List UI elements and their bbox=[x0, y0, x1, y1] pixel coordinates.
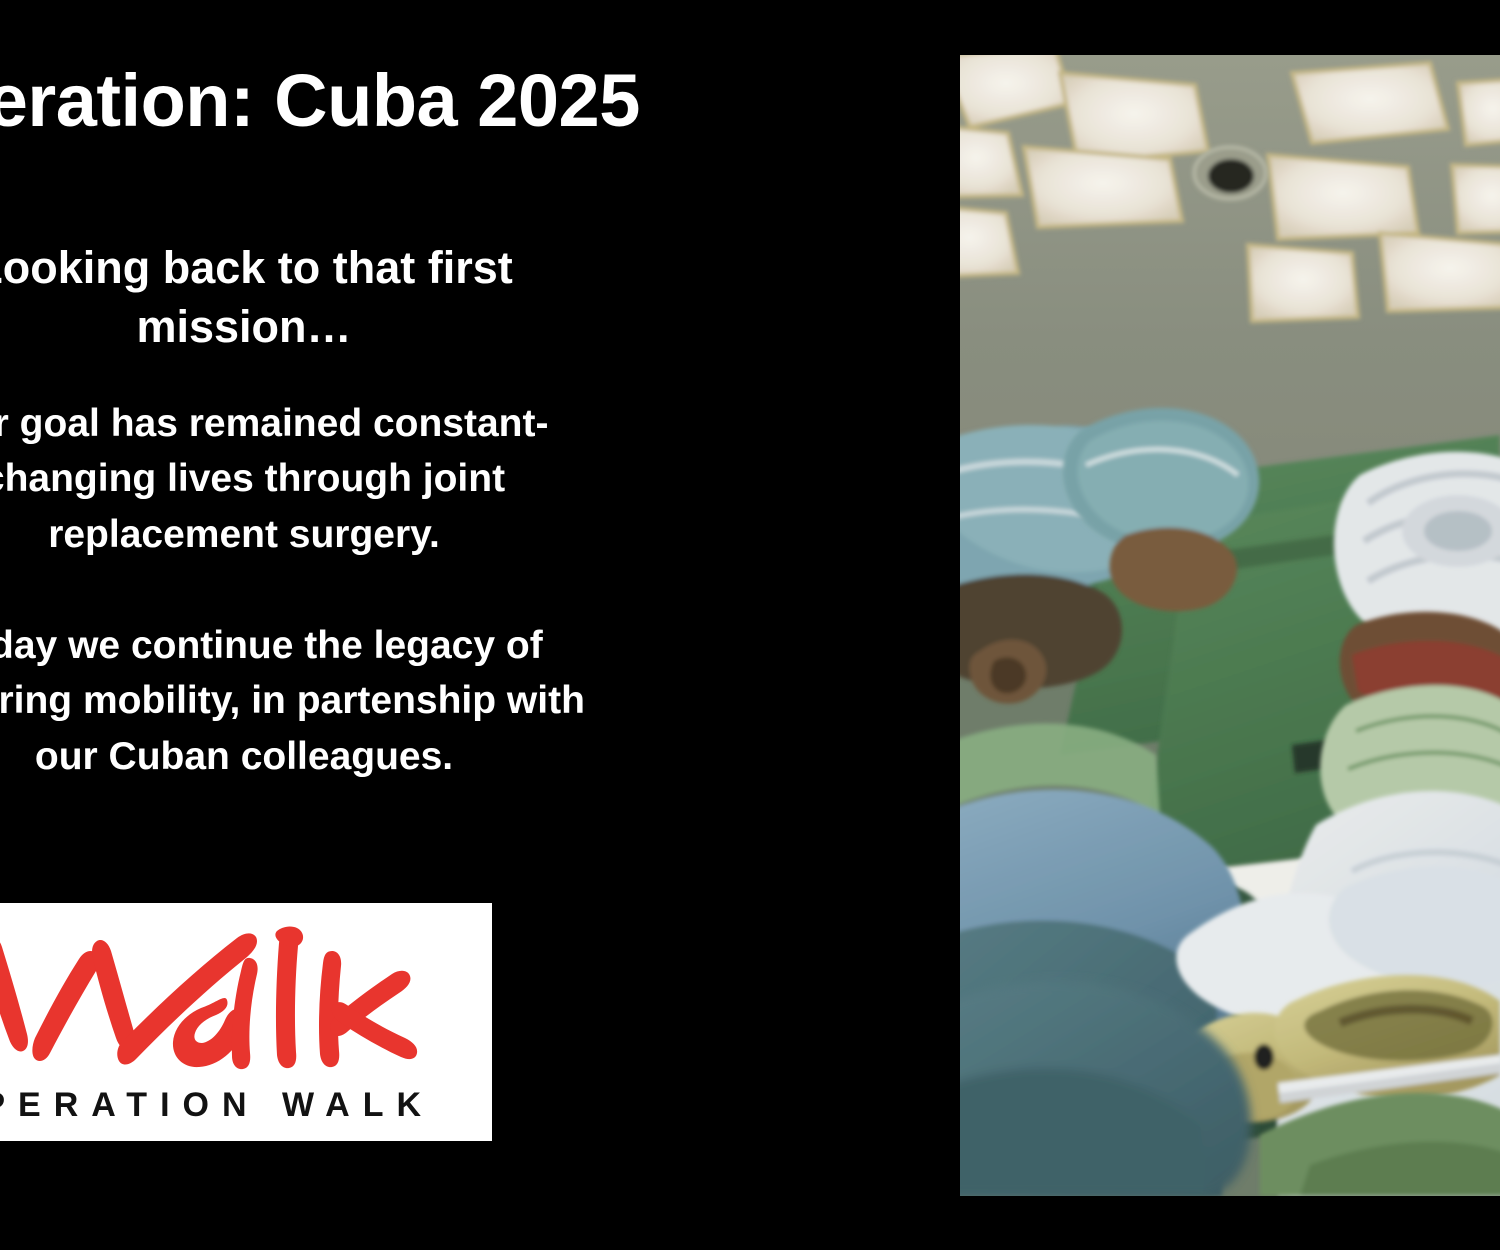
body-paragraph-1: Our goal has remained constant- changing… bbox=[0, 396, 603, 562]
logo-wordmark: OPERATION WALK bbox=[0, 1086, 492, 1125]
slide-subheading: Looking back to that first mission… bbox=[0, 238, 603, 357]
body-paragraph-2: Today we continue the legacy of restorin… bbox=[0, 618, 603, 784]
page-title: Operation: Cuba 2025 bbox=[0, 62, 715, 140]
walk-script-icon bbox=[0, 911, 492, 1079]
operation-walk-logo: OPERATION WALK bbox=[0, 903, 492, 1141]
operating-room-photo bbox=[960, 55, 1500, 1196]
presentation-slide: Operation: Cuba 2025 Looking back to tha… bbox=[0, 0, 1500, 1250]
